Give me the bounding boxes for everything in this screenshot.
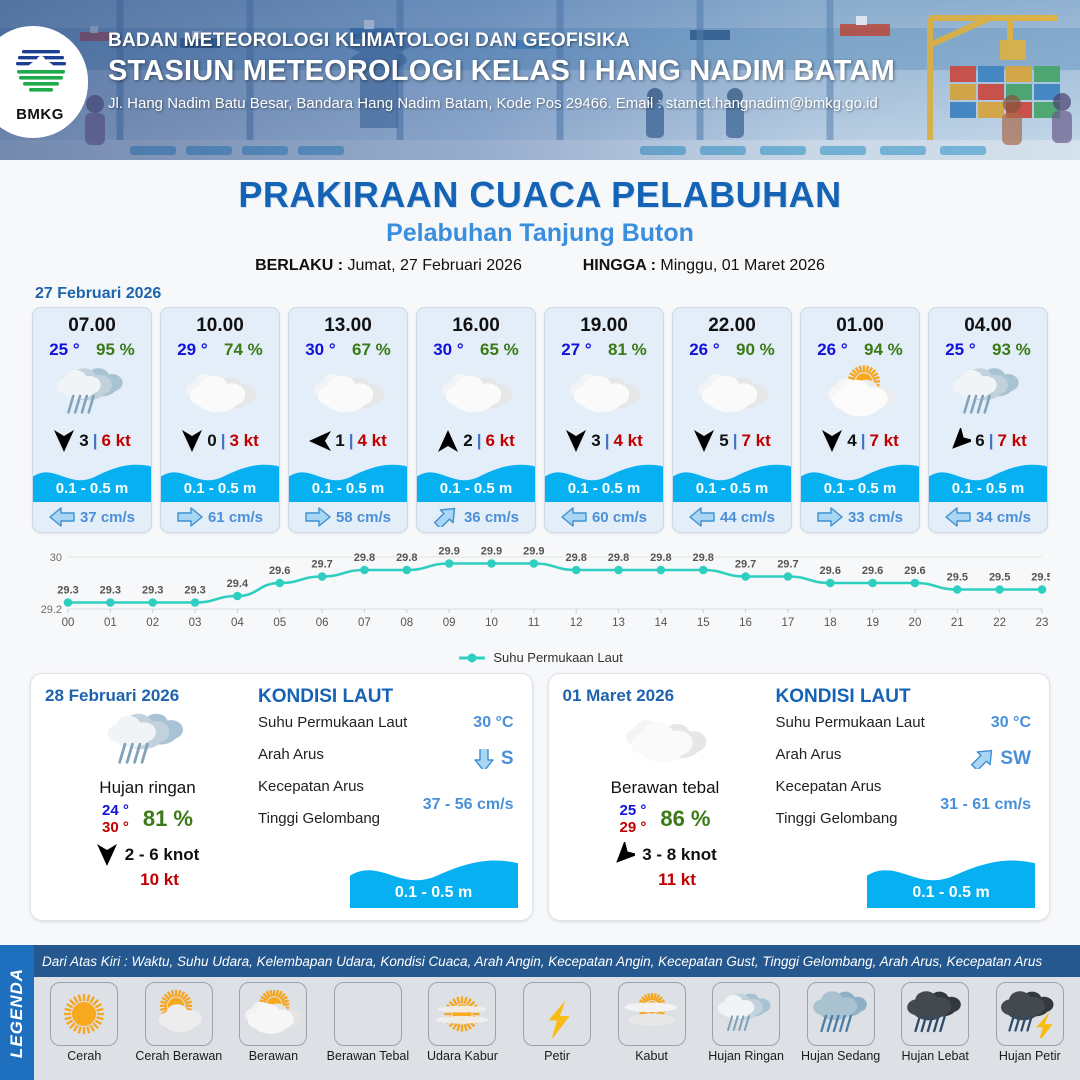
forecast-card: 04.00 25 ° 93 % 6 | 7 kt 0.1 xyxy=(928,307,1048,533)
wind-speed-value: 4 xyxy=(847,431,856,451)
forecast-wave: 0.1 - 0.5 m xyxy=(161,458,279,502)
forecast-humidity: 93 % xyxy=(992,340,1031,360)
legend-item: Petir xyxy=(511,982,604,1080)
forecast-wave: 0.1 - 0.5 m xyxy=(33,458,151,502)
wind-gust-value: 6 kt xyxy=(485,431,514,451)
wave-height-label: Tinggi Gelombang xyxy=(776,810,898,827)
legend-section: LEGENDA Dari Atas Kiri : Waktu, Suhu Uda… xyxy=(0,945,1080,1080)
svg-text:29.8: 29.8 xyxy=(608,552,629,564)
legend-item-label: Hujan Petir xyxy=(999,1049,1061,1063)
chart-legend: Suhu Permukaan Laut xyxy=(30,650,1050,665)
current-direction-right-icon xyxy=(817,507,843,527)
forecast-wind-row: 6 | 7 kt xyxy=(929,424,1047,458)
forecast-humidity: 94 % xyxy=(864,340,903,360)
title-section: PRAKIRAAN CUACA PELABUHAN Pelabuhan Tanj… xyxy=(0,160,1080,275)
daily-wind-gust: 11 kt xyxy=(587,870,768,890)
legend-item-label: Hujan Lebat xyxy=(901,1049,968,1063)
svg-text:29.5: 29.5 xyxy=(989,572,1010,584)
forecast-date-heading: 27 Februari 2026 xyxy=(35,285,1080,303)
current-direction-right-icon xyxy=(305,507,331,527)
cloudy-icon xyxy=(309,364,387,422)
cloudy-icon xyxy=(565,364,643,422)
legend-item-label: Kabut xyxy=(635,1049,668,1063)
forecast-humidity: 67 % xyxy=(352,340,391,360)
wind-separator: | xyxy=(221,431,226,451)
forecast-current-row: 58 cm/s xyxy=(289,502,407,532)
wind-gust-value: 6 kt xyxy=(101,431,130,451)
daily-summary: 28 Februari 2026 Hujan ringan 24 ° 30 ° … xyxy=(45,686,250,910)
wind-gust-value: 7 kt xyxy=(997,431,1026,451)
forecast-wind-row: 0 | 3 kt xyxy=(161,424,279,458)
svg-text:04: 04 xyxy=(231,617,244,629)
forecast-temperature: 30 ° xyxy=(433,340,463,360)
svg-text:29.8: 29.8 xyxy=(650,552,671,564)
svg-text:18: 18 xyxy=(824,617,837,629)
legend-item-label: Berawan xyxy=(249,1049,298,1063)
wind-direction-down-icon xyxy=(565,428,587,454)
wave-height-value: 0.1 - 0.5 m xyxy=(545,480,663,497)
legend-item: Udara Kabur xyxy=(416,982,509,1080)
wave-height-value: 0.1 - 0.5 m xyxy=(673,480,791,497)
legend-marker-icon xyxy=(457,652,487,664)
svg-text:13: 13 xyxy=(612,617,625,629)
wind-direction-down-icon xyxy=(96,842,118,868)
forecast-humidity: 65 % xyxy=(480,340,519,360)
wind-direction-down-icon xyxy=(821,428,843,454)
wind-separator: | xyxy=(733,431,738,451)
thunderstorm-icon xyxy=(1001,990,1059,1038)
forecast-wave: 0.1 - 0.5 m xyxy=(929,458,1047,502)
svg-text:29.3: 29.3 xyxy=(57,585,78,597)
wave-height-row: Tinggi Gelombang xyxy=(258,810,518,842)
legend-item: Hujan Sedang xyxy=(794,982,887,1080)
forecast-wind-row: 3 | 6 kt xyxy=(33,424,151,458)
svg-text:29.7: 29.7 xyxy=(735,559,756,571)
svg-text:07: 07 xyxy=(358,617,371,629)
daily-temp-min: 25 ° xyxy=(619,802,646,819)
rain-light-icon xyxy=(53,364,131,422)
svg-text:29.3: 29.3 xyxy=(100,585,121,597)
wind-speed-value: 1 xyxy=(335,431,344,451)
legend-item: Hujan Ringan xyxy=(700,982,793,1080)
svg-text:20: 20 xyxy=(909,617,922,629)
wind-direction-up-icon xyxy=(437,428,459,454)
svg-text:29.7: 29.7 xyxy=(311,559,332,571)
sst-value: 30 °C xyxy=(473,714,513,732)
legend-icon-box xyxy=(996,982,1064,1046)
wind-gust-value: 7 kt xyxy=(741,431,770,451)
daily-wind-range: 2 - 6 knot xyxy=(125,845,200,865)
station-name: STASIUN METEOROLOGI KELAS I HANG NADIM B… xyxy=(108,55,895,88)
forecast-humidity: 81 % xyxy=(608,340,647,360)
current-direction-row: Arah Arus SW xyxy=(776,746,1036,778)
forecast-current-row: 44 cm/s xyxy=(673,502,791,532)
wind-direction-down-icon xyxy=(181,428,203,454)
wind-separator: | xyxy=(989,431,994,451)
svg-text:12: 12 xyxy=(570,617,583,629)
legend-item-label: Hujan Sedang xyxy=(801,1049,880,1063)
current-speed-row: Kecepatan Arus 31 - 61 cm/s xyxy=(776,778,1036,810)
svg-text:29.6: 29.6 xyxy=(820,565,841,577)
cloudy-icon xyxy=(437,364,515,422)
current-direction-right-icon xyxy=(177,507,203,527)
svg-text:15: 15 xyxy=(697,617,710,629)
current-direction-value: SW xyxy=(1000,748,1031,770)
legend-icon-box xyxy=(901,982,969,1046)
legend-item: Cerah Berawan xyxy=(133,982,226,1080)
wind-direction-down-left-icon xyxy=(949,428,971,454)
sun-cloud-icon xyxy=(150,990,208,1038)
forecast-weather-icon xyxy=(929,362,1047,424)
forecast-wave: 0.1 - 0.5 m xyxy=(801,458,919,502)
current-direction-label: Arah Arus xyxy=(258,746,324,763)
forecast-card: 19.00 27 ° 81 % 3 | 4 kt 0.1 xyxy=(544,307,664,533)
legend-item-label: Cerah xyxy=(67,1049,101,1063)
svg-text:30: 30 xyxy=(50,552,62,564)
svg-text:29.6: 29.6 xyxy=(269,565,290,577)
sst-value: 30 °C xyxy=(991,714,1031,732)
hingga-label: HINGGA : xyxy=(583,257,656,274)
logo-label: BMKG xyxy=(10,106,70,123)
forecast-wave: 0.1 - 0.5 m xyxy=(545,458,663,502)
validity-row: BERLAKU : Jumat, 27 Februari 2026 HINGGA… xyxy=(0,257,1080,275)
svg-text:29.6: 29.6 xyxy=(862,565,883,577)
current-direction-left-icon xyxy=(689,507,715,527)
sun-icon xyxy=(55,990,113,1038)
forecast-wave: 0.1 - 0.5 m xyxy=(417,458,535,502)
svg-text:19: 19 xyxy=(866,617,879,629)
daily-forecast-panel: 28 Februari 2026 Hujan ringan 24 ° 30 ° … xyxy=(30,673,533,921)
sst-row: Suhu Permukaan Laut 30 °C xyxy=(776,714,1036,746)
svg-text:29.2: 29.2 xyxy=(41,604,62,616)
legend-item-label: Petir xyxy=(544,1049,570,1063)
daily-forecast-panels: 28 Februari 2026 Hujan ringan 24 ° 30 ° … xyxy=(0,665,1080,921)
svg-text:10: 10 xyxy=(485,617,498,629)
legend-icon-box xyxy=(428,982,496,1046)
wind-gust-value: 3 kt xyxy=(229,431,258,451)
wind-separator: | xyxy=(861,431,866,451)
current-speed-value: 34 cm/s xyxy=(976,509,1031,526)
cloudy-icon xyxy=(181,364,259,422)
forecast-weather-icon xyxy=(417,362,535,424)
svg-text:29.8: 29.8 xyxy=(565,552,586,564)
legend-item-label: Hujan Ringan xyxy=(708,1049,784,1063)
daily-date: 01 Maret 2026 xyxy=(563,686,768,706)
daily-wave-value: 0.1 - 0.5 m xyxy=(350,884,518,902)
wind-speed-value: 6 xyxy=(975,431,984,451)
forecast-temperature: 26 ° xyxy=(817,340,847,360)
daily-humidity: 86 % xyxy=(660,806,710,832)
forecast-wind-row: 1 | 4 kt xyxy=(289,424,407,458)
wind-separator: | xyxy=(93,431,98,451)
forecast-humidity: 90 % xyxy=(736,340,775,360)
daily-weather-icon xyxy=(45,708,250,774)
wind-separator: | xyxy=(477,431,482,451)
wind-speed-value: 2 xyxy=(463,431,472,451)
legend-icon-box xyxy=(239,982,307,1046)
rain-light-icon xyxy=(949,364,1027,422)
svg-text:22: 22 xyxy=(993,617,1006,629)
forecast-time: 19.00 xyxy=(545,308,663,337)
svg-text:00: 00 xyxy=(62,617,75,629)
daily-summary: 01 Maret 2026 Berawan tebal 25 ° 29 ° 86… xyxy=(563,686,768,910)
daily-date: 28 Februari 2026 xyxy=(45,686,250,706)
forecast-card: 10.00 29 ° 74 % 0 | 3 kt 0.1 xyxy=(160,307,280,533)
sst-line-chart: 3029.20001020304050607080910111213141516… xyxy=(30,543,1050,643)
rain-light-icon xyxy=(717,990,775,1038)
daily-humidity: 81 % xyxy=(143,806,193,832)
forecast-card-list: 07.00 25 ° 95 % 3 | 6 kt 0.1 xyxy=(0,307,1080,533)
rain-moderate-icon xyxy=(812,990,870,1038)
svg-text:29.7: 29.7 xyxy=(777,559,798,571)
legend-icon-box xyxy=(334,982,402,1046)
berlaku-value: Jumat, 27 Februari 2026 xyxy=(348,257,522,274)
legend-item: Berawan xyxy=(227,982,320,1080)
forecast-card: 16.00 30 ° 65 % 2 | 6 kt 0.1 xyxy=(416,307,536,533)
fog-icon xyxy=(623,990,681,1038)
current-speed-value: 58 cm/s xyxy=(336,509,391,526)
sun-clouds-icon xyxy=(244,990,302,1038)
forecast-weather-icon xyxy=(801,362,919,424)
svg-text:29.9: 29.9 xyxy=(523,546,544,558)
forecast-time: 16.00 xyxy=(417,308,535,337)
forecast-weather-icon xyxy=(673,362,791,424)
svg-text:08: 08 xyxy=(400,617,413,629)
legend-icon-box xyxy=(807,982,875,1046)
wind-direction-down-icon xyxy=(693,428,715,454)
legend-item: Hujan Lebat xyxy=(889,982,982,1080)
forecast-current-row: 34 cm/s xyxy=(929,502,1047,532)
legend-item-label: Berawan Tebal xyxy=(327,1049,409,1063)
svg-text:29.3: 29.3 xyxy=(142,585,163,597)
current-direction-label: Arah Arus xyxy=(776,746,842,763)
sst-row: Suhu Permukaan Laut 30 °C xyxy=(258,714,518,746)
current-direction-left-icon xyxy=(49,507,75,527)
cloudy-icon xyxy=(617,709,713,773)
svg-text:29.4: 29.4 xyxy=(227,578,249,590)
svg-text:29.3: 29.3 xyxy=(184,585,205,597)
svg-text:21: 21 xyxy=(951,617,964,629)
wind-separator: | xyxy=(605,431,610,451)
svg-text:29.5: 29.5 xyxy=(947,572,968,584)
svg-text:17: 17 xyxy=(782,617,795,629)
wind-gust-value: 4 kt xyxy=(357,431,386,451)
forecast-current-row: 36 cm/s xyxy=(417,502,535,532)
wave-height-row: Tinggi Gelombang xyxy=(776,810,1036,842)
station-address: Jl. Hang Nadim Batu Besar, Bandara Hang … xyxy=(108,95,895,112)
forecast-card: 13.00 30 ° 67 % 1 | 4 kt 0.1 xyxy=(288,307,408,533)
lightning-icon xyxy=(528,990,586,1038)
wind-direction-down-left-icon xyxy=(613,842,635,868)
current-speed-value: 60 cm/s xyxy=(592,509,647,526)
forecast-current-row: 33 cm/s xyxy=(801,502,919,532)
legend-item-list: Cerah Cerah Berawan Berawan Berawan Teba… xyxy=(34,977,1080,1080)
daily-wind-row: 3 - 8 knot xyxy=(563,842,768,868)
legend-item: Berawan Tebal xyxy=(322,982,415,1080)
current-speed-label: Kecepatan Arus xyxy=(258,778,364,795)
svg-text:01: 01 xyxy=(104,617,117,629)
berlaku-label: BERLAKU : xyxy=(255,257,343,274)
daily-temp-max: 29 ° xyxy=(619,819,646,836)
forecast-card: 07.00 25 ° 95 % 3 | 6 kt 0.1 xyxy=(32,307,152,533)
legend-icon-box xyxy=(712,982,780,1046)
forecast-temperature: 25 ° xyxy=(49,340,79,360)
legend-icon-box xyxy=(523,982,591,1046)
wave-height-value: 0.1 - 0.5 m xyxy=(161,480,279,497)
forecast-current-row: 61 cm/s xyxy=(161,502,279,532)
legend-icon-box xyxy=(145,982,213,1046)
sea-conditions-title: KONDISI LAUT xyxy=(258,686,518,708)
legend-side-label: LEGENDA xyxy=(7,967,27,1057)
forecast-wave: 0.1 - 0.5 m xyxy=(289,458,407,502)
svg-text:11: 11 xyxy=(528,617,540,629)
daily-temp-humidity: 25 ° 29 ° 86 % xyxy=(563,802,768,836)
current-speed-value: 36 cm/s xyxy=(464,509,519,526)
daily-wind-row: 2 - 6 knot xyxy=(45,842,250,868)
forecast-card: 01.00 26 ° 94 % 4 | 7 kt 0.1 xyxy=(800,307,920,533)
current-direction-value-group: S xyxy=(471,748,514,770)
wind-separator: | xyxy=(349,431,354,451)
svg-text:29.9: 29.9 xyxy=(481,546,502,558)
forecast-weather-icon xyxy=(545,362,663,424)
svg-text:09: 09 xyxy=(443,617,456,629)
svg-text:29.8: 29.8 xyxy=(396,552,417,564)
forecast-current-row: 60 cm/s xyxy=(545,502,663,532)
wave-height-value: 0.1 - 0.5 m xyxy=(801,480,919,497)
haze-icon xyxy=(433,990,491,1038)
svg-text:02: 02 xyxy=(146,617,159,629)
forecast-time: 01.00 xyxy=(801,308,919,337)
daily-wave-graphic: 0.1 - 0.5 m xyxy=(350,852,518,908)
forecast-time: 10.00 xyxy=(161,308,279,337)
current-direction-value: S xyxy=(501,748,514,770)
forecast-temperature: 27 ° xyxy=(561,340,591,360)
daily-condition: Berawan tebal xyxy=(563,778,768,798)
current-speed-value: 33 cm/s xyxy=(848,509,903,526)
current-direction-down-icon xyxy=(471,749,497,769)
sst-label: Suhu Permukaan Laut xyxy=(776,714,925,731)
legend-item-label: Cerah Berawan xyxy=(135,1049,222,1063)
legend-item: Kabut xyxy=(605,982,698,1080)
svg-text:06: 06 xyxy=(316,617,329,629)
wind-speed-value: 5 xyxy=(719,431,728,451)
forecast-humidity: 95 % xyxy=(96,340,135,360)
forecast-wave: 0.1 - 0.5 m xyxy=(673,458,791,502)
daily-temp-humidity: 24 ° 30 ° 81 % xyxy=(45,802,250,836)
daily-wind-gust: 10 kt xyxy=(69,870,250,890)
current-direction-up-right-icon xyxy=(970,749,996,769)
forecast-weather-icon xyxy=(161,362,279,424)
svg-text:14: 14 xyxy=(654,617,667,629)
current-direction-up-right-icon xyxy=(433,507,459,527)
wind-gust-value: 7 kt xyxy=(869,431,898,451)
wind-direction-down-icon xyxy=(53,428,75,454)
legend-icon-box xyxy=(50,982,118,1046)
chart-legend-label: Suhu Permukaan Laut xyxy=(493,650,622,665)
current-speed-value: 44 cm/s xyxy=(720,509,775,526)
forecast-weather-icon xyxy=(289,362,407,424)
forecast-time: 22.00 xyxy=(673,308,791,337)
current-speed-value: 61 cm/s xyxy=(208,509,263,526)
forecast-wind-row: 4 | 7 kt xyxy=(801,424,919,458)
wind-speed-value: 3 xyxy=(591,431,600,451)
forecast-wind-row: 5 | 7 kt xyxy=(673,424,791,458)
current-direction-row: Arah Arus S xyxy=(258,746,518,778)
legend-side-tab: LEGENDA xyxy=(0,945,34,1080)
forecast-temperature: 26 ° xyxy=(689,340,719,360)
legend-note: Dari Atas Kiri : Waktu, Suhu Udara, Kele… xyxy=(42,954,1074,969)
forecast-time: 04.00 xyxy=(929,308,1047,337)
daily-condition: Hujan ringan xyxy=(45,778,250,798)
forecast-humidity: 74 % xyxy=(224,340,263,360)
legend-item-label: Udara Kabur xyxy=(427,1049,498,1063)
daily-forecast-panel: 01 Maret 2026 Berawan tebal 25 ° 29 ° 86… xyxy=(548,673,1051,921)
page-header: BMKG BADAN METEOROLOGI KLIMATOLOGI DAN G… xyxy=(0,0,1080,160)
daily-weather-icon xyxy=(563,708,768,774)
legend-icon-box xyxy=(618,982,686,1046)
rain-heavy-icon xyxy=(906,990,964,1038)
forecast-time: 07.00 xyxy=(33,308,151,337)
svg-text:29.9: 29.9 xyxy=(438,546,459,558)
forecast-temperature: 29 ° xyxy=(177,340,207,360)
daily-temp-min: 24 ° xyxy=(102,802,129,819)
svg-text:05: 05 xyxy=(273,617,286,629)
forecast-wind-row: 3 | 4 kt xyxy=(545,424,663,458)
daily-wind-range: 3 - 8 knot xyxy=(642,845,717,865)
partly-cloudy-icon xyxy=(821,364,899,422)
forecast-temperature: 25 ° xyxy=(945,340,975,360)
svg-text:23: 23 xyxy=(1036,617,1049,629)
daily-wave-graphic: 0.1 - 0.5 m xyxy=(867,852,1035,908)
forecast-current-row: 37 cm/s xyxy=(33,502,151,532)
current-speed-value: 37 cm/s xyxy=(80,509,135,526)
current-direction-left-icon xyxy=(561,507,587,527)
svg-text:29.5: 29.5 xyxy=(1031,572,1050,584)
legend-item: Cerah xyxy=(38,982,131,1080)
current-direction-left-icon xyxy=(945,507,971,527)
forecast-time: 13.00 xyxy=(289,308,407,337)
port-name: Pelabuhan Tanjung Buton xyxy=(0,219,1080,248)
current-speed-label: Kecepatan Arus xyxy=(776,778,882,795)
wind-speed-value: 3 xyxy=(79,431,88,451)
sea-conditions-title: KONDISI LAUT xyxy=(776,686,1036,708)
page-title: PRAKIRAAN CUACA PELABUHAN xyxy=(0,174,1080,216)
sea-conditions: KONDISI LAUT Suhu Permukaan Laut 30 °C A… xyxy=(768,686,1036,910)
wind-direction-left-icon xyxy=(309,428,331,454)
forecast-card: 22.00 26 ° 90 % 5 | 7 kt 0.1 xyxy=(672,307,792,533)
wave-height-value: 0.1 - 0.5 m xyxy=(417,480,535,497)
forecast-weather-icon xyxy=(33,362,151,424)
wind-speed-value: 0 xyxy=(207,431,216,451)
wind-gust-value: 4 kt xyxy=(613,431,642,451)
svg-text:03: 03 xyxy=(189,617,202,629)
wave-height-value: 0.1 - 0.5 m xyxy=(289,480,407,497)
svg-text:29.8: 29.8 xyxy=(354,552,375,564)
svg-text:29.6: 29.6 xyxy=(904,565,925,577)
rain-light-icon xyxy=(100,709,196,773)
bmkg-emblem-icon xyxy=(10,42,72,100)
wave-height-label: Tinggi Gelombang xyxy=(258,810,380,827)
current-direction-value-group: SW xyxy=(970,748,1031,770)
daily-temp-max: 30 ° xyxy=(102,819,129,836)
agency-name: BADAN METEOROLOGI KLIMATOLOGI DAN GEOFIS… xyxy=(108,30,895,52)
wave-height-value: 0.1 - 0.5 m xyxy=(33,480,151,497)
svg-text:29.8: 29.8 xyxy=(693,552,714,564)
current-speed-row: Kecepatan Arus 37 - 56 cm/s xyxy=(258,778,518,810)
clouds-icon xyxy=(339,990,397,1038)
daily-wave-value: 0.1 - 0.5 m xyxy=(867,884,1035,902)
forecast-temperature: 30 ° xyxy=(305,340,335,360)
